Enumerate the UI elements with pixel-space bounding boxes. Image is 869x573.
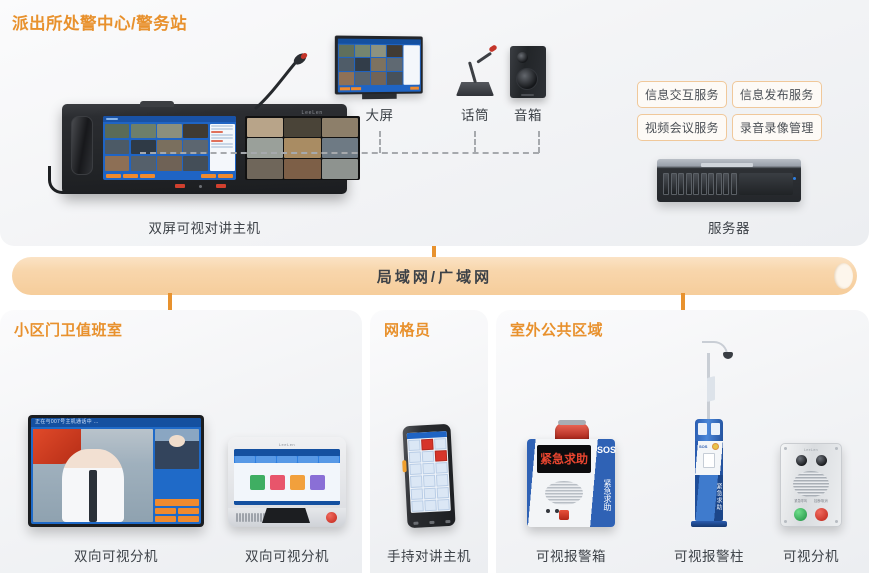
service-tag[interactable]: 视频会议服务: [637, 114, 727, 141]
peripheral-connector-stub-mic: [474, 131, 476, 153]
surveillance-camera-icon: [723, 352, 733, 359]
zone-panel-command-center: 派出所处警中心/警务站 LeeLen: [0, 0, 869, 246]
hangup-button-icon[interactable]: [815, 508, 828, 521]
wall-intercom-panel-icon: LeeLen 紧急呼叫 挂断/取消: [780, 443, 842, 527]
service-tag[interactable]: 信息交互服务: [637, 81, 727, 108]
server-rack-icon: [657, 159, 801, 202]
console-cctv-grid-screen: [245, 116, 360, 180]
device-label-alarm-pillar: 可视报警柱: [655, 545, 763, 565]
alarm-box-led-text: 紧急求助: [540, 453, 588, 465]
alarm-box-sos-text: SOS: [597, 445, 611, 455]
zone-title-command-center: 派出所处警中心/警务站: [12, 10, 187, 34]
service-tag[interactable]: 录音录像管理: [732, 114, 822, 141]
alarm-box-icon: 紧急求助 SOS 紧急求助: [527, 423, 615, 527]
record-button-icon[interactable]: [326, 512, 337, 523]
call-panel-icon[interactable]: [703, 453, 715, 468]
device-label-wall-intercom: 可视分机: [772, 545, 850, 565]
desktop-tablet-intercom-icon: LeeLen: [228, 437, 346, 527]
loudspeaker-icon: [510, 46, 546, 98]
wall-panel-button-label-right: 挂断/取消: [814, 498, 828, 503]
call-button-icon[interactable]: [794, 508, 807, 521]
console-label: 双屏可视对讲主机: [62, 217, 347, 237]
peripheral-label-speaker: 音箱: [500, 104, 556, 124]
handheld-terminal-icon: [402, 424, 455, 528]
service-tag[interactable]: 信息发布服务: [732, 81, 822, 108]
peripheral-label-large-screen: 大屏: [335, 104, 424, 124]
wall-monitor-status-text: 正在与007号主机通话中 ...: [31, 418, 201, 427]
wall-panel-button-label-left: 紧急呼叫: [794, 498, 807, 503]
large-screen-display-icon: [335, 36, 423, 95]
peripheral-connector-stub-speaker: [538, 131, 540, 153]
dual-screen-video-intercom-console: LeeLen: [62, 104, 347, 194]
tablet-brand-label: LeeLen: [234, 442, 340, 447]
peripheral-connector-stub-screen: [379, 131, 381, 153]
sos-side-button-icon[interactable]: [402, 460, 407, 472]
service-tag-list: 信息交互服务 信息发布服务 视频会议服务 录音录像管理: [637, 81, 859, 141]
device-label-alarm-box: 可视报警箱: [518, 545, 624, 565]
alarm-box-led-display: 紧急求助: [537, 445, 591, 473]
handset-cord-icon: [48, 166, 74, 194]
peripheral-connector-line: [140, 152, 539, 154]
zone-title-outdoor-public-area: 室外公共区域: [510, 319, 603, 340]
alarm-pillar-icon: SOS 紧急求助: [686, 337, 732, 527]
alarm-box-side-text: 紧急求助: [596, 479, 612, 511]
speaker-grill-icon: [545, 481, 583, 505]
zone-title-gate-room: 小区门卫值班室: [14, 319, 123, 340]
emergency-call-button-icon[interactable]: [559, 510, 569, 520]
pipe-end-cap-icon: [834, 263, 853, 289]
device-label-handheld-terminal: 手持对讲主机: [370, 545, 488, 565]
device-label-wall-monitor: 双向可视分机: [28, 545, 204, 565]
desk-microphone-icon: [452, 44, 498, 96]
console-video-conference-screen: [103, 116, 236, 180]
camera-lens-icon: [796, 455, 807, 466]
console-gooseneck-microphone-icon: [252, 52, 312, 110]
peripheral-label-microphone: 话筒: [446, 104, 504, 124]
console-indicator-leds: [175, 184, 226, 188]
wall-video-monitor-icon: 正在与007号主机通话中 ...: [28, 415, 204, 527]
alarm-pillar-sos-text: SOS: [699, 444, 707, 449]
alarm-pillar-side-text: 紧急求助: [695, 483, 723, 511]
device-label-tablet-intercom: 双向可视分机: [228, 545, 346, 565]
speaker-grill-icon: [793, 471, 829, 497]
wall-panel-brand-label: LeeLen: [781, 448, 841, 452]
network-backbone-bar: 局域网/广域网: [12, 257, 857, 295]
network-label: 局域网/广域网: [12, 257, 857, 295]
zone-title-grid-worker: 网格员: [384, 319, 431, 340]
camera-lens-icon: [816, 455, 827, 466]
police-emblem-icon: [712, 443, 719, 450]
handset-icon: [71, 116, 93, 175]
topology-diagram: 派出所处警中心/警务站 LeeLen: [0, 0, 869, 573]
server-label: 服务器: [657, 217, 801, 237]
